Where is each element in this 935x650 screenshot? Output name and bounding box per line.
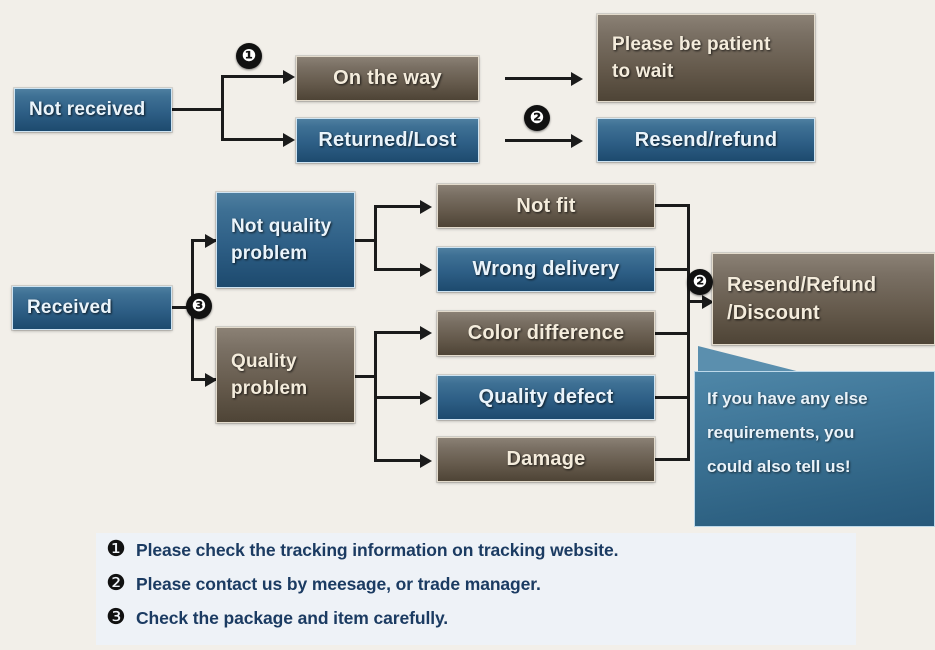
node-not-quality-problem-line1: Not quality	[231, 217, 331, 236]
legend-item: ❷ Please contact us by meesage, or trade…	[96, 567, 856, 601]
connector-to-not-fit	[374, 205, 424, 208]
connector-not-quality-bracket	[374, 205, 377, 271]
node-quality-problem-line1: Quality	[231, 352, 297, 371]
merge-spine	[687, 204, 690, 461]
merge-stub-color-difference	[655, 332, 689, 335]
legend-number-three: ❸	[96, 607, 136, 629]
speech-bubble-line1: If you have any else	[707, 382, 922, 416]
node-returned-lost[interactable]: Returned/Lost	[296, 118, 479, 163]
arrow-to-damage	[420, 454, 432, 468]
connector-to-quality-defect	[374, 396, 424, 399]
node-resend-refund-label: Resend/refund	[635, 129, 778, 152]
connector-not-received-stem	[172, 108, 224, 111]
connector-not-received-bracket	[221, 75, 224, 141]
node-please-be-patient[interactable]: Please be patient to wait	[597, 14, 815, 102]
connector-to-on-the-way	[221, 75, 285, 78]
arrow-to-on-the-way	[283, 70, 295, 84]
legend-text-three: Check the package and item carefully.	[136, 608, 448, 629]
node-color-difference-label: Color difference	[468, 322, 625, 345]
node-resend-refund-discount-line2: /Discount	[727, 303, 820, 323]
node-received-label: Received	[27, 297, 112, 319]
speech-bubble: If you have any else requirements, you c…	[694, 371, 935, 527]
node-resend-refund[interactable]: Resend/refund	[597, 118, 815, 162]
node-wrong-delivery[interactable]: Wrong delivery	[437, 247, 655, 292]
node-quality-problem[interactable]: Quality problem	[216, 327, 355, 423]
node-resend-refund-discount-line1: Resend/Refund	[727, 275, 876, 295]
legend-number-two: ❷	[96, 573, 136, 595]
node-not-quality-problem-line2: problem	[231, 244, 307, 263]
node-color-difference[interactable]: Color difference	[437, 311, 655, 356]
node-quality-defect[interactable]: Quality defect	[437, 375, 655, 420]
connector-to-returned-lost	[221, 138, 285, 141]
connector-to-damage	[374, 459, 424, 462]
merge-stub-quality-defect	[655, 396, 689, 399]
arrow-to-color-difference	[420, 326, 432, 340]
step-badge-three: ❸	[186, 293, 212, 319]
node-not-received-label: Not received	[29, 99, 145, 121]
node-please-be-patient-line2: to wait	[612, 62, 674, 81]
node-not-fit[interactable]: Not fit	[437, 184, 655, 228]
speech-bubble-line2: requirements, you	[707, 416, 922, 450]
arrow-on-the-way-to-patient	[571, 72, 583, 86]
connector-on-the-way-to-patient	[505, 77, 573, 80]
node-returned-lost-label: Returned/Lost	[318, 129, 456, 152]
node-damage-label: Damage	[506, 448, 585, 471]
connector-to-wrong-delivery	[374, 268, 424, 271]
arrow-to-returned-lost	[283, 133, 295, 147]
flowchart-canvas: Not received ❶ On the way Returned/Lost …	[0, 0, 935, 650]
node-please-be-patient-line1: Please be patient	[612, 35, 771, 54]
legend-item: ❶ Please check the tracking information …	[96, 533, 856, 567]
step-badge-two-top: ❷	[524, 105, 550, 131]
node-not-received[interactable]: Not received	[14, 88, 172, 132]
arrow-to-wrong-delivery	[420, 263, 432, 277]
legend: ❶ Please check the tracking information …	[96, 533, 856, 645]
merge-stub-not-fit	[655, 204, 689, 207]
node-quality-problem-line2: problem	[231, 379, 307, 398]
merge-stub-wrong-delivery	[655, 268, 689, 271]
legend-text-two: Please contact us by meesage, or trade m…	[136, 574, 541, 595]
node-not-fit-label: Not fit	[516, 195, 575, 218]
speech-bubble-line3: could also tell us!	[707, 450, 922, 484]
legend-item: ❸ Check the package and item carefully.	[96, 601, 856, 635]
connector-to-color-difference	[374, 331, 424, 334]
node-wrong-delivery-label: Wrong delivery	[473, 258, 620, 281]
arrow-to-quality-defect	[420, 391, 432, 405]
node-not-quality-problem[interactable]: Not quality problem	[216, 192, 355, 288]
node-damage[interactable]: Damage	[437, 437, 655, 482]
connector-returned-to-resend	[505, 139, 573, 142]
legend-text-one: Please check the tracking information on…	[136, 540, 618, 561]
node-on-the-way[interactable]: On the way	[296, 56, 479, 101]
arrow-returned-to-resend	[571, 134, 583, 148]
merge-stub-damage	[655, 458, 689, 461]
node-resend-refund-discount[interactable]: Resend/Refund /Discount	[712, 253, 935, 345]
step-badge-two-bottom: ❷	[687, 269, 713, 295]
node-quality-defect-label: Quality defect	[478, 386, 613, 409]
node-on-the-way-label: On the way	[333, 67, 442, 90]
arrow-to-not-fit	[420, 200, 432, 214]
step-badge-one-top: ❶	[236, 43, 262, 69]
node-received[interactable]: Received	[12, 286, 172, 330]
legend-number-one: ❶	[96, 539, 136, 561]
